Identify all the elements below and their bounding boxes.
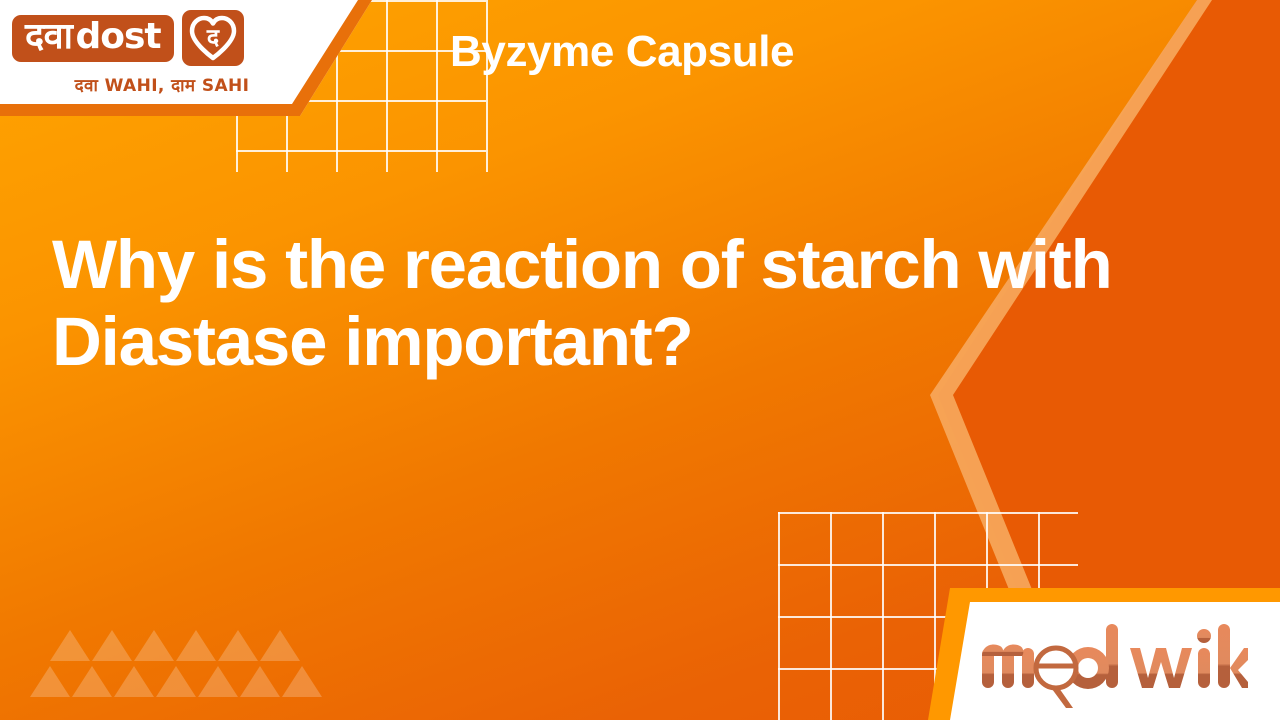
logo-wordmark: दवा dost [12, 15, 174, 62]
grid-line-vertical [436, 0, 438, 172]
triangle-shape [50, 630, 90, 661]
triangle-shape [114, 666, 154, 697]
grid-line-horizontal [778, 564, 1078, 566]
magnifier-handle [1052, 688, 1073, 708]
product-title: Byzyme Capsule [450, 30, 794, 74]
heart-icon: द [188, 15, 238, 61]
logo-text-hindi: दवा [25, 19, 72, 55]
triangle-shape [176, 630, 216, 661]
triangle-shape [198, 666, 238, 697]
grid-line-horizontal [778, 512, 1078, 514]
grid-line-horizontal [236, 150, 486, 152]
triangle-shape [72, 666, 112, 697]
grid-line-vertical [830, 512, 832, 720]
triangle-shape [240, 666, 280, 697]
medwiki-logo-panel[interactable] [928, 588, 1280, 720]
slide-canvas: दवा dost द दवा WAHI, दाम SAHI Byzyme Cap… [0, 0, 1280, 720]
triangle-shape [30, 666, 70, 697]
magnifier-icon [1036, 648, 1076, 708]
triangle-shape [134, 630, 174, 661]
grid-line-vertical [486, 0, 488, 172]
logo-text-english: dost [75, 19, 160, 55]
grid-line-vertical [778, 512, 780, 720]
logo-tagline: दवा WAHI, दाम SAHI [12, 73, 312, 96]
medwiki-wordmark-logo [980, 622, 1248, 708]
headline-question: Why is the reaction of starch with Diast… [52, 226, 1212, 381]
grid-line-vertical [386, 0, 388, 172]
medwiki-letters [982, 624, 1248, 690]
triangle-pattern-decoration [30, 630, 320, 710]
brand-logo-panel: दवा dost द दवा WAHI, दाम SAHI [0, 0, 372, 130]
logo-mark-row: दवा dost द [12, 10, 334, 66]
triangle-shape [156, 666, 196, 697]
triangle-shape [282, 666, 322, 697]
triangle-shape [92, 630, 132, 661]
dawadost-logo[interactable]: दवा dost द दवा WAHI, दाम SAHI [12, 10, 334, 120]
triangle-shape [260, 630, 300, 661]
heart-icon-box: द [182, 10, 244, 66]
heart-letter: द [206, 25, 220, 51]
triangle-shape [218, 630, 258, 661]
grid-line-vertical [882, 512, 884, 720]
